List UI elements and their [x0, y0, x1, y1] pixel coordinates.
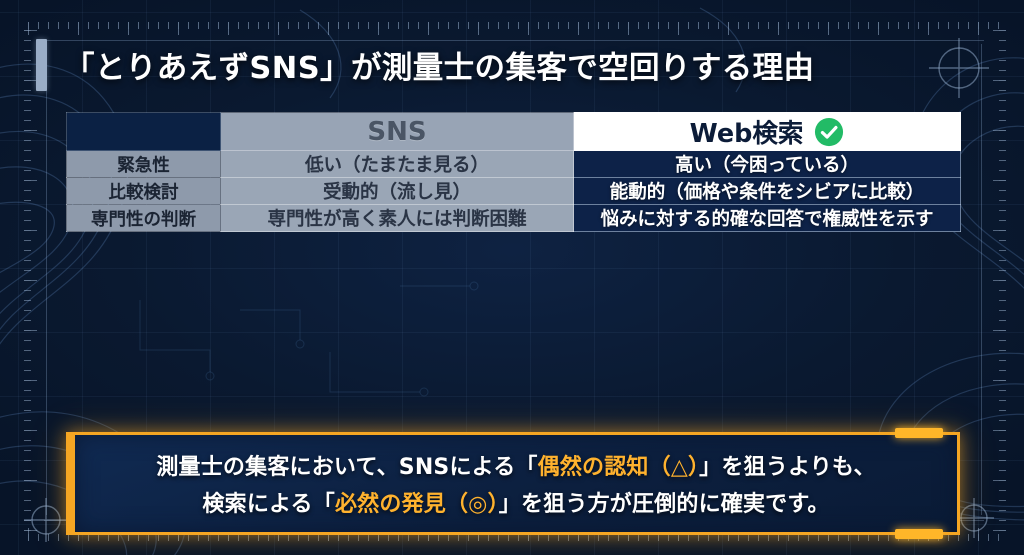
column-header-web-label: Web検索	[690, 113, 804, 150]
table-header-row: SNS Web検索	[67, 113, 961, 151]
table-row: 比較検討 受動的（流し見） 能動的（価格や条件をシビアに比較）	[67, 178, 961, 205]
column-header-web: Web検索	[574, 113, 961, 151]
comparison-table: SNS Web検索 緊急性 低い（た	[66, 112, 961, 232]
cell-web-urgency: 高い（今困っている）	[574, 151, 961, 178]
slide-canvas: 「とりあえずSNS」が測量士の集客で空回りする理由 SNS Web検索	[0, 0, 1024, 555]
callout-line-2: 検索による「必然の発見（◎）」を狙う方が圧倒的に確実です。	[202, 486, 829, 518]
cell-web-comparison: 能動的（価格や条件をシビアに比較）	[574, 178, 961, 205]
cell-sns-expertise: 専門性が高く素人には判断困難	[221, 205, 574, 232]
slide-title-row: 「とりあえずSNS」が測量士の集客で空回りする理由	[36, 36, 814, 94]
row-label-urgency: 緊急性	[67, 151, 221, 178]
callout-line1-suffix: 」を狙うよりも、	[699, 455, 876, 480]
callout-line1-prefix: 測量士の集客において、SNSによる「	[156, 455, 537, 480]
column-header-sns: SNS	[221, 113, 574, 151]
callout-line2-highlight: 必然の発見（◎）	[335, 492, 499, 517]
title-accent-bar	[36, 39, 47, 91]
table-corner-blank-cell	[67, 113, 221, 151]
table-row: 緊急性 低い（たまたま見る） 高い（今困っている）	[67, 151, 961, 178]
cell-sns-comparison: 受動的（流し見）	[221, 178, 574, 205]
row-label-comparison: 比較検討	[67, 178, 221, 205]
row-label-expertise: 専門性の判断	[67, 205, 221, 232]
cell-sns-urgency: 低い（たまたま見る）	[221, 151, 574, 178]
callout-line2-suffix: 」を狙う方が圧倒的に確実です。	[499, 492, 830, 517]
page-title: 「とりあえずSNS」が測量士の集客で空回りする理由	[64, 43, 814, 87]
callout-line1-highlight: 偶然の認知（△）	[538, 455, 700, 480]
conclusion-callout-box: 測量士の集客において、SNSによる「偶然の認知（△）」を狙うよりも、 検索による…	[66, 432, 960, 535]
callout-corner-accent-bottom-right	[895, 529, 943, 539]
callout-line-1: 測量士の集客において、SNSによる「偶然の認知（△）」を狙うよりも、	[156, 449, 875, 481]
check-circle-icon	[814, 117, 844, 147]
callout-line2-prefix: 検索による「	[202, 492, 335, 517]
table-row: 専門性の判断 専門性が高く素人には判断困難 悩みに対する的確な回答で権威性を示す	[67, 205, 961, 232]
callout-corner-accent-top-right	[895, 428, 943, 438]
cell-web-expertise: 悩みに対する的確な回答で権威性を示す	[574, 205, 961, 232]
